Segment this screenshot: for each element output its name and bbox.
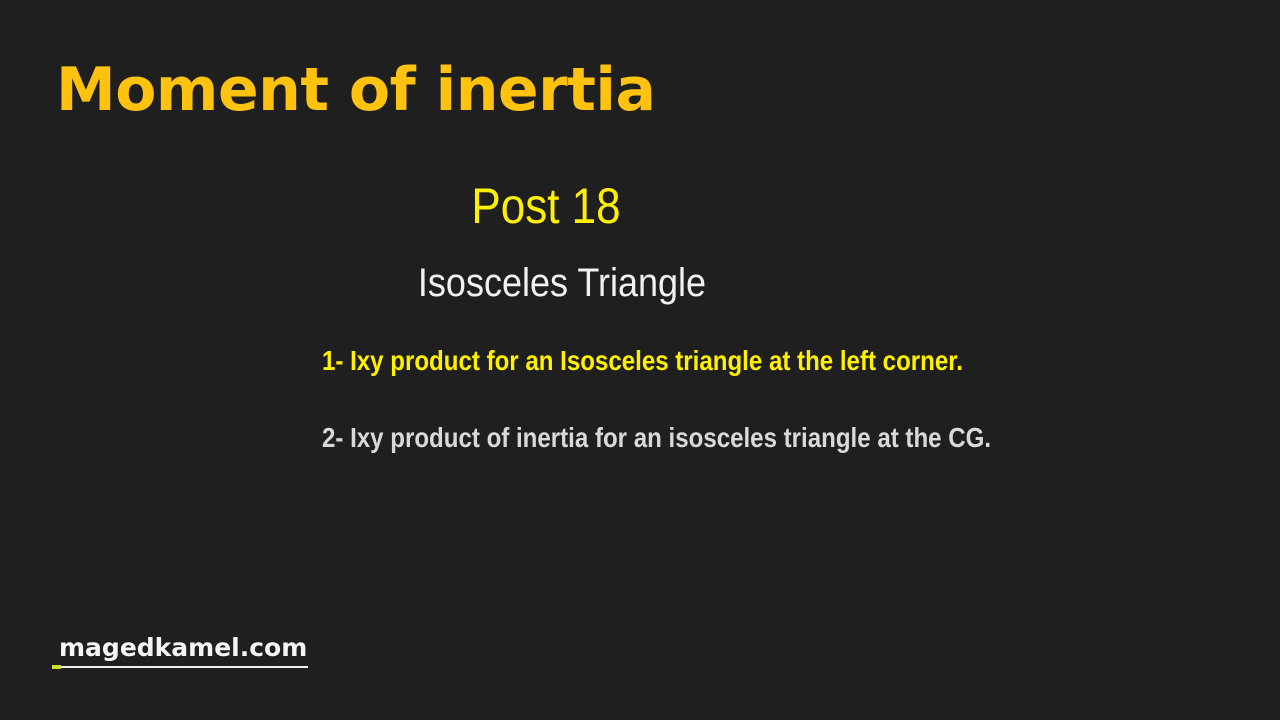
list-item: 1- Ixy product for an Isosceles triangle… <box>322 340 1082 382</box>
link-marker-icon <box>52 665 61 669</box>
page-title: Moment of inertia <box>56 54 655 126</box>
site-credit-link[interactable]: magedkamel.com <box>56 632 308 668</box>
presentation-slide: Moment of inertia Post 18 Isosceles Tria… <box>0 0 1280 720</box>
shape-name-subheading: Isosceles Triangle <box>56 258 1068 308</box>
bullet-list: 1- Ixy product for an Isosceles triangle… <box>322 340 1082 459</box>
list-item: 2- Ixy product of inertia for an isoscel… <box>322 417 1082 459</box>
post-number-heading: Post 18 <box>66 176 1027 236</box>
site-credit-label[interactable]: magedkamel.com <box>56 632 308 668</box>
